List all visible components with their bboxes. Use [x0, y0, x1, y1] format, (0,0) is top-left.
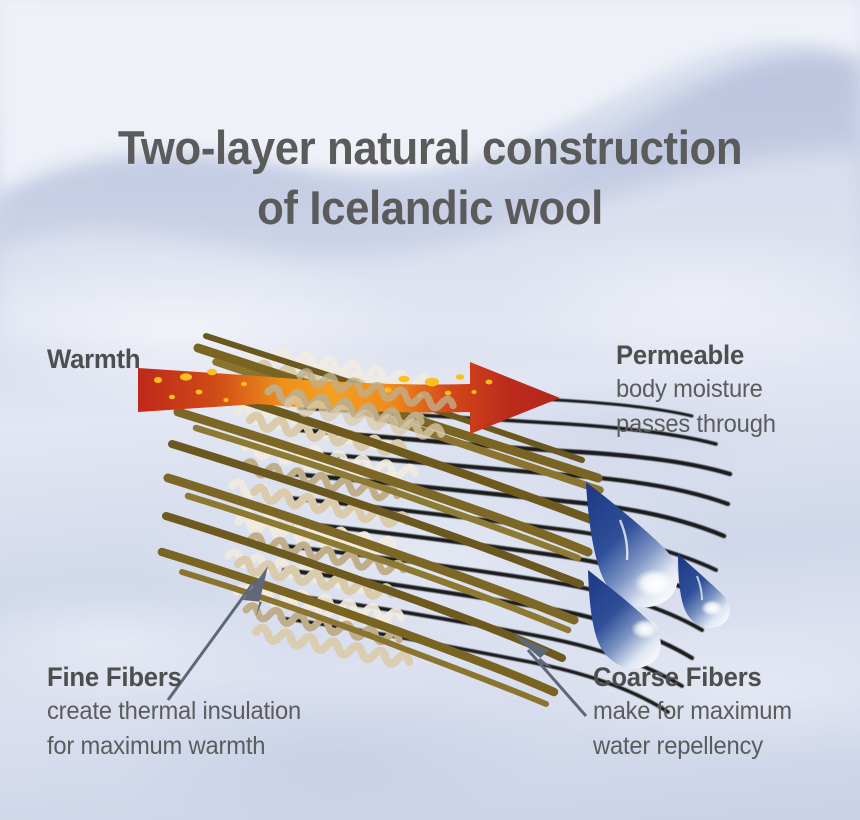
page-title: Two-layer natural construction of Icelan… — [30, 118, 830, 238]
label-fine-fibers: Fine Fibers create thermal insulation fo… — [47, 660, 314, 764]
label-coarse-fibers-description: make for maximum water repellency — [593, 694, 792, 764]
label-fine-fibers-description: create thermal insulation for maximum wa… — [47, 694, 301, 764]
label-permeable: Permeable body moisture passes through — [616, 338, 784, 442]
label-permeable-heading: Permeable — [616, 338, 776, 372]
label-coarse-fibers: Coarse Fibers make for maximum water rep… — [593, 660, 802, 764]
label-warmth-heading: Warmth — [47, 342, 140, 376]
label-warmth: Warmth — [47, 342, 145, 376]
label-permeable-description: body moisture passes through — [616, 372, 776, 442]
label-coarse-fibers-heading: Coarse Fibers — [593, 660, 792, 694]
label-fine-fibers-heading: Fine Fibers — [47, 660, 301, 694]
wool-infographic: Two-layer natural construction of Icelan… — [0, 0, 860, 820]
water-droplet-icon — [586, 482, 730, 669]
